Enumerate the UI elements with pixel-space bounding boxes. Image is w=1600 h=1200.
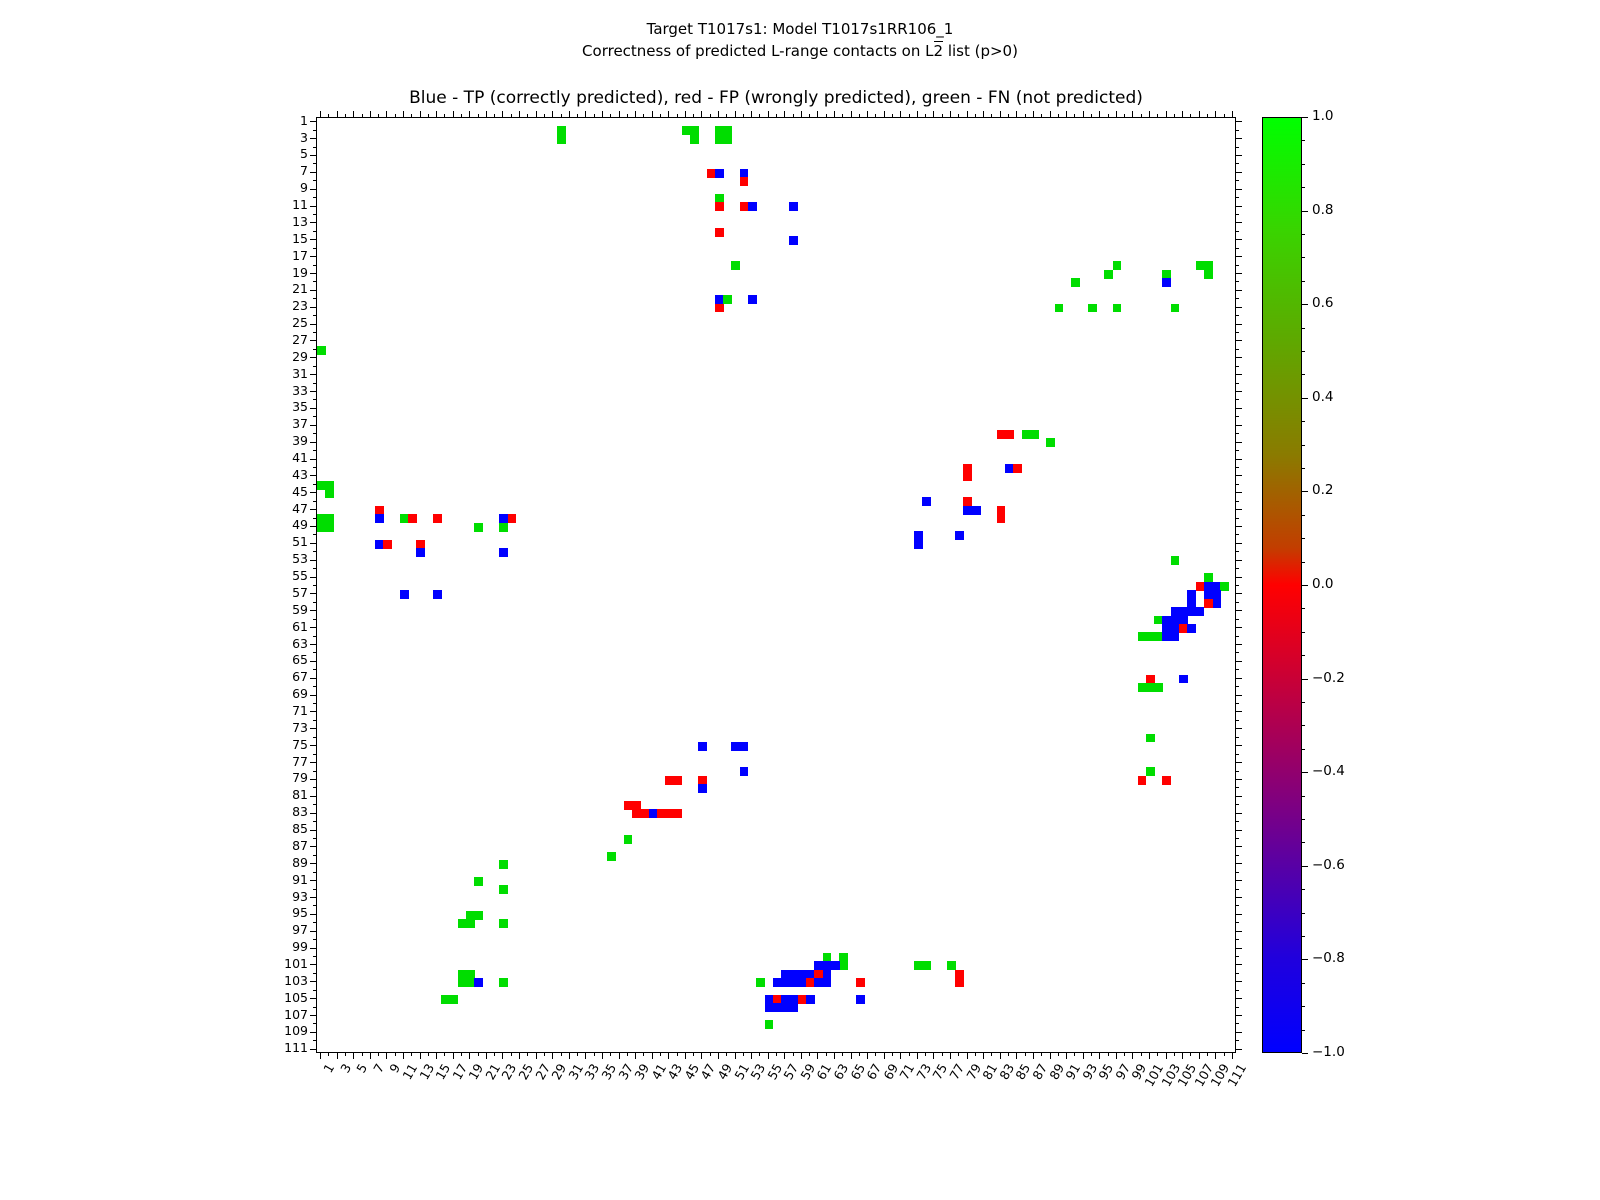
x-axis-tick (1232, 1053, 1233, 1059)
x-axis-tick (701, 111, 702, 117)
x-axis-tick (353, 1053, 354, 1059)
y-axis-tick (1236, 973, 1239, 974)
x-axis-tick (1141, 1053, 1142, 1056)
y-axis-tick (1236, 172, 1242, 173)
y-axis-tick (1236, 459, 1242, 460)
x-axis-tick (743, 1053, 744, 1056)
contact-cell-fp (632, 809, 649, 818)
contact-cell-fp (1204, 599, 1213, 608)
x-axis-tick (1083, 1053, 1084, 1059)
y-axis-tick (1236, 577, 1242, 578)
colorbar-minor-tick (1302, 234, 1305, 235)
y-axis-tick (1236, 669, 1239, 670)
y-axis-tick (310, 239, 316, 240)
y-axis-tick (1236, 813, 1242, 814)
x-axis-tick (643, 1053, 644, 1056)
x-axis-tick (1132, 1053, 1133, 1059)
y-axis-tick (1236, 636, 1239, 637)
y-axis-tick (310, 340, 316, 341)
y-axis-tick (1236, 568, 1239, 569)
x-axis-tick (436, 1053, 437, 1059)
x-axis-tick (967, 1053, 968, 1059)
y-tick-label-49: 49 (292, 519, 308, 532)
y-axis-tick (310, 863, 316, 864)
colorbar-tick-label: 0.4 (1312, 391, 1333, 405)
x-axis-tick (1190, 1053, 1191, 1056)
y-axis-tick (1236, 787, 1239, 788)
y-axis-tick (310, 492, 316, 493)
y-tick-label-25: 25 (292, 317, 308, 330)
y-axis-tick (1236, 475, 1242, 476)
y-axis-tick (1236, 408, 1242, 409)
x-axis-tick (627, 1053, 628, 1056)
colorbar-tick (1302, 679, 1308, 680)
x-axis-tick (1099, 111, 1100, 117)
y-tick-label-53: 53 (292, 553, 308, 566)
colorbar-tick-label: 0.6 (1312, 297, 1333, 311)
x-axis-tick (933, 1053, 934, 1059)
y-axis-tick (313, 821, 316, 822)
y-axis-tick (310, 577, 316, 578)
x-axis-tick (536, 1053, 537, 1059)
x-axis-tick (1166, 1053, 1167, 1059)
y-axis-tick (310, 1032, 316, 1033)
y-tick-label-93: 93 (292, 891, 308, 904)
contact-map-plot-area[interactable] (316, 117, 1236, 1053)
contact-cell-tp (748, 202, 757, 211)
y-tick-label-75: 75 (292, 739, 308, 752)
contact-cell-fp (1138, 776, 1147, 785)
x-axis-tick (1108, 114, 1109, 117)
contact-cell-tp (914, 531, 923, 548)
figure-suptitle: Target T1017s1: Model T1017s1RR106_1 Cor… (0, 18, 1600, 62)
x-axis-tick (809, 114, 810, 117)
x-axis-tick (958, 114, 959, 117)
x-axis-tick (602, 1053, 603, 1059)
y-axis-tick (1236, 214, 1239, 215)
y-axis-tick (310, 644, 316, 645)
y-axis-tick (310, 172, 316, 173)
y-axis-tick (313, 298, 316, 299)
x-axis-tick (569, 1053, 570, 1059)
contact-cell-fn (715, 126, 732, 143)
y-axis-tick (313, 720, 316, 721)
x-axis-tick (552, 111, 553, 117)
x-axis-tick (801, 111, 802, 117)
y-tick-label-11: 11 (292, 199, 308, 212)
y-axis-tick (1236, 720, 1239, 721)
y-axis-tick (1236, 307, 1242, 308)
x-axis-tick (577, 114, 578, 117)
y-axis-tick (313, 433, 316, 434)
y-axis-tick (313, 956, 316, 957)
x-axis-tick (569, 111, 570, 117)
y-axis-tick (310, 459, 316, 460)
x-axis-tick (710, 114, 711, 117)
contact-cell-fn (723, 295, 732, 304)
contact-cell-tp (1187, 590, 1196, 607)
contact-cell-fn (499, 885, 508, 894)
y-axis-tick (1236, 147, 1239, 148)
y-axis-tick (1236, 155, 1242, 156)
y-axis-tick (313, 771, 316, 772)
x-axis-tick (859, 114, 860, 117)
x-axis-tick (983, 111, 984, 117)
y-axis-tick (1236, 728, 1242, 729)
x-axis-tick (1224, 1053, 1225, 1056)
y-axis-tick (313, 602, 316, 603)
x-axis-tick (337, 1053, 338, 1059)
x-axis-tick (627, 114, 628, 117)
y-axis-tick (1236, 509, 1242, 510)
y-axis-tick (310, 880, 316, 881)
x-axis-tick (768, 1053, 769, 1059)
suptitle-line-2: Correctness of predicted L-range contact… (0, 40, 1600, 62)
contact-cell-fn (1088, 304, 1097, 313)
x-axis-tick (677, 114, 678, 117)
x-axis-tick (1050, 111, 1051, 117)
y-axis-tick (310, 914, 316, 915)
y-axis-tick (313, 534, 316, 535)
y-axis-tick (313, 619, 316, 620)
y-axis-tick (1236, 964, 1242, 965)
y-tick-label-21: 21 (292, 283, 308, 296)
x-axis-tick (1008, 1053, 1009, 1056)
y-axis-tick (1236, 661, 1242, 662)
contact-map-cells (317, 118, 1235, 1052)
y-tick-label-71: 71 (292, 705, 308, 718)
y-tick-label-47: 47 (292, 503, 308, 516)
contact-cell-fn (765, 1020, 774, 1029)
colorbar-minor-tick (1302, 749, 1305, 750)
colorbar-minor-tick (1302, 819, 1305, 820)
y-axis-tick (313, 231, 316, 232)
x-axis-tick (461, 1053, 462, 1056)
x-axis-tick (428, 114, 429, 117)
contact-cell-fn (499, 523, 508, 532)
y-axis-tick (1236, 248, 1239, 249)
y-axis-tick (310, 1015, 316, 1016)
x-axis-tick (1224, 114, 1225, 117)
x-axis-tick (320, 111, 321, 117)
x-axis-tick (403, 1053, 404, 1059)
y-axis-tick (1236, 745, 1242, 746)
contact-cell-fp (740, 177, 749, 186)
x-axis-tick (420, 111, 421, 117)
colorbar-tick-label: −0.2 (1312, 672, 1345, 686)
colorbar-minor-tick (1302, 374, 1305, 375)
x-axis-tick (859, 1053, 860, 1056)
y-axis-tick (1236, 1032, 1242, 1033)
x-axis-tick (511, 114, 512, 117)
x-axis-tick (867, 1053, 868, 1059)
y-tick-label-29: 29 (292, 351, 308, 364)
y-axis-tick (310, 408, 316, 409)
y-axis-tick (313, 568, 316, 569)
x-axis-tick (875, 1053, 876, 1056)
contact-cell-fp (856, 978, 865, 987)
y-tick-label-27: 27 (292, 334, 308, 347)
contact-cell-fn (1071, 278, 1080, 287)
x-axis-tick (1124, 114, 1125, 117)
x-axis-tick (1091, 114, 1092, 117)
x-axis-tick (519, 1053, 520, 1059)
x-axis-tick (809, 1053, 810, 1056)
x-axis-tick (743, 114, 744, 117)
colorbar-minor-tick (1302, 257, 1305, 258)
y-axis-tick (313, 416, 316, 417)
y-axis-tick (1236, 357, 1242, 358)
contact-cell-fn (1146, 734, 1155, 743)
x-axis-tick (403, 111, 404, 117)
y-axis-tick (313, 501, 316, 502)
y-axis-tick (310, 678, 316, 679)
y-axis-tick (1236, 627, 1242, 628)
contact-cell-tp (789, 236, 798, 245)
contact-cell-fn (1171, 556, 1180, 565)
contact-cell-fn (1138, 632, 1163, 641)
y-axis-tick (313, 265, 316, 266)
contact-cell-fn (1196, 261, 1205, 270)
x-axis-tick (444, 1053, 445, 1056)
contact-cell-tp (765, 1003, 799, 1012)
x-axis-tick (1207, 1053, 1208, 1056)
x-axis-tick (378, 1053, 379, 1056)
suptitle-line-2-overline: 2 (934, 41, 944, 60)
x-axis-tick (759, 114, 760, 117)
contact-cell-tp (748, 295, 757, 304)
contact-cell-fn (624, 835, 633, 844)
colorbar-minor-tick (1302, 562, 1305, 563)
y-tick-label-59: 59 (292, 604, 308, 617)
y-axis-tick (1236, 399, 1239, 400)
y-axis-tick (1236, 121, 1242, 122)
x-axis-tick (1157, 1053, 1158, 1056)
contact-cell-fp (715, 228, 724, 237)
y-axis-tick (1236, 905, 1239, 906)
x-axis-tick (619, 111, 620, 117)
x-axis-tick (585, 111, 586, 117)
x-axis-tick (1000, 1053, 1001, 1059)
x-axis-tick (718, 1053, 719, 1059)
y-axis-tick (310, 981, 316, 982)
y-axis-tick (313, 349, 316, 350)
y-axis-tick (1236, 939, 1239, 940)
x-axis-tick (851, 1053, 852, 1059)
contact-cell-fn (1113, 261, 1122, 270)
x-axis-tick (478, 1053, 479, 1056)
x-axis-tick (817, 1053, 818, 1059)
x-axis-tick (933, 111, 934, 117)
colorbar-tick (1302, 959, 1308, 960)
y-tick-label-45: 45 (292, 486, 308, 499)
y-axis-tick (313, 366, 316, 367)
x-axis-tick (395, 114, 396, 117)
y-axis-tick (310, 357, 316, 358)
colorbar-minor-tick (1302, 328, 1305, 329)
x-axis-tick (735, 111, 736, 117)
y-axis-tick (1236, 981, 1242, 982)
x-axis-tick (975, 1053, 976, 1056)
y-axis-tick (1236, 686, 1239, 687)
contact-cell-tp (922, 497, 931, 506)
y-axis-tick (313, 163, 316, 164)
colorbar-minor-tick (1302, 983, 1305, 984)
contact-cell-tp (499, 548, 508, 557)
x-axis-tick (378, 114, 379, 117)
x-axis-tick (685, 111, 686, 117)
contact-cell-tp (715, 169, 724, 178)
x-axis-tick (1207, 114, 1208, 117)
y-axis-tick (310, 442, 316, 443)
contact-cell-fp (963, 464, 972, 481)
colorbar-minor-tick (1302, 281, 1305, 282)
x-axis-tick (544, 114, 545, 117)
contact-cell-fn (1146, 767, 1155, 776)
y-axis-tick (1236, 804, 1239, 805)
y-axis-tick (1236, 265, 1239, 266)
y-axis-tick (1236, 830, 1242, 831)
y-axis-tick (1236, 922, 1239, 923)
y-axis-tick (310, 846, 316, 847)
contact-cell-fn (607, 852, 616, 861)
x-axis-tick (345, 1053, 346, 1056)
y-axis-tick (313, 585, 316, 586)
x-axis-tick (469, 1053, 470, 1059)
x-axis-tick (834, 111, 835, 117)
colorbar-minor-tick (1302, 655, 1305, 656)
y-axis-tick (310, 290, 316, 291)
x-axis-tick (842, 114, 843, 117)
x-axis-tick (991, 1053, 992, 1056)
y-axis-tick (1236, 518, 1239, 519)
y-axis-tick (313, 787, 316, 788)
x-axis-tick (776, 1053, 777, 1056)
y-axis-tick (1236, 1015, 1242, 1016)
x-axis-tick (552, 1053, 553, 1059)
contact-cell-fp (408, 514, 417, 523)
x-axis-tick (610, 114, 611, 117)
colorbar-minor-tick (1302, 351, 1305, 352)
contact-cell-fn (756, 978, 765, 987)
y-axis-tick (1236, 585, 1239, 586)
y-axis-tick (1236, 450, 1239, 451)
y-axis-tick (313, 855, 316, 856)
x-axis-tick (685, 1053, 686, 1059)
x-axis-tick (1008, 114, 1009, 117)
x-axis-tick (544, 1053, 545, 1056)
colorbar-tick (1302, 866, 1308, 867)
y-axis-tick (1236, 492, 1242, 493)
suptitle-line-1: Target T1017s1: Model T1017s1RR106_1 (0, 18, 1600, 40)
x-axis-tick (967, 111, 968, 117)
contact-cell-tp (856, 995, 865, 1004)
contact-cell-fp (715, 304, 724, 313)
y-tick-label-69: 69 (292, 688, 308, 701)
y-axis-tick (313, 180, 316, 181)
colorbar-minor-tick (1302, 445, 1305, 446)
y-axis-tick (310, 593, 316, 594)
y-tick-label-57: 57 (292, 587, 308, 600)
y-tick-label-95: 95 (292, 907, 308, 920)
contact-cell-tp (955, 531, 964, 540)
x-axis-tick (909, 114, 910, 117)
y-axis-tick (313, 399, 316, 400)
contact-cell-fn (1171, 304, 1180, 313)
y-axis-tick (310, 256, 316, 257)
y-axis-tick (1236, 425, 1242, 426)
y-axis-tick (313, 248, 316, 249)
contact-cell-fn (325, 489, 334, 498)
y-axis-tick (310, 543, 316, 544)
x-axis-tick (1058, 1053, 1059, 1056)
x-axis-tick (1066, 111, 1067, 117)
y-axis-tick (310, 931, 316, 932)
y-axis-tick (1236, 467, 1239, 468)
contact-cell-tp (474, 978, 483, 987)
y-axis-tick (1236, 197, 1239, 198)
x-axis-tick (1099, 1053, 1100, 1059)
contact-cell-fp (433, 514, 442, 523)
y-tick-label-15: 15 (292, 233, 308, 246)
x-axis-tick (635, 111, 636, 117)
x-axis-tick (1174, 1053, 1175, 1056)
contact-cell-tp (433, 590, 442, 599)
x-axis-tick (362, 114, 363, 117)
contact-cell-tp (1187, 607, 1204, 616)
y-axis-tick (313, 1007, 316, 1008)
colorbar-tick (1302, 398, 1308, 399)
y-axis-tick (313, 669, 316, 670)
contact-cell-tp (400, 590, 409, 599)
y-axis-tick (1236, 501, 1239, 502)
x-axis-tick (386, 1053, 387, 1059)
contact-cell-fp (997, 430, 1014, 439)
contact-cell-fn (1138, 683, 1163, 692)
x-axis-tick (561, 1053, 562, 1056)
y-axis-tick (1236, 914, 1242, 915)
colorbar-tick (1302, 585, 1308, 586)
y-axis-tick (313, 990, 316, 991)
y-tick-label-99: 99 (292, 941, 308, 954)
x-axis-tick (1033, 111, 1034, 117)
y-axis-tick (1236, 298, 1239, 299)
x-axis-tick (428, 1053, 429, 1056)
y-axis-tick (1236, 315, 1239, 316)
x-axis-tick (875, 114, 876, 117)
x-axis-tick (328, 114, 329, 117)
colorbar-minor-tick (1302, 468, 1305, 469)
x-axis-tick (478, 114, 479, 117)
x-axis-tick (1149, 1053, 1150, 1059)
x-axis-tick (668, 1053, 669, 1059)
y-axis-tick (1236, 189, 1242, 190)
x-axis-tick (826, 114, 827, 117)
x-axis-tick (917, 111, 918, 117)
colorbar-gradient (1263, 118, 1301, 1052)
colorbar-tick-label: 1.0 (1312, 110, 1333, 124)
contact-cell-fp (657, 809, 682, 818)
contact-cell-fn (474, 523, 483, 532)
colorbar[interactable] (1262, 117, 1302, 1053)
x-axis-tick (395, 1053, 396, 1056)
y-axis-tick (1236, 324, 1242, 325)
contact-cell-fn (914, 961, 931, 970)
contact-cell-tp (731, 742, 748, 751)
x-axis-tick (958, 1053, 959, 1056)
x-axis-tick (1157, 114, 1158, 117)
x-axis-tick (751, 1053, 752, 1059)
